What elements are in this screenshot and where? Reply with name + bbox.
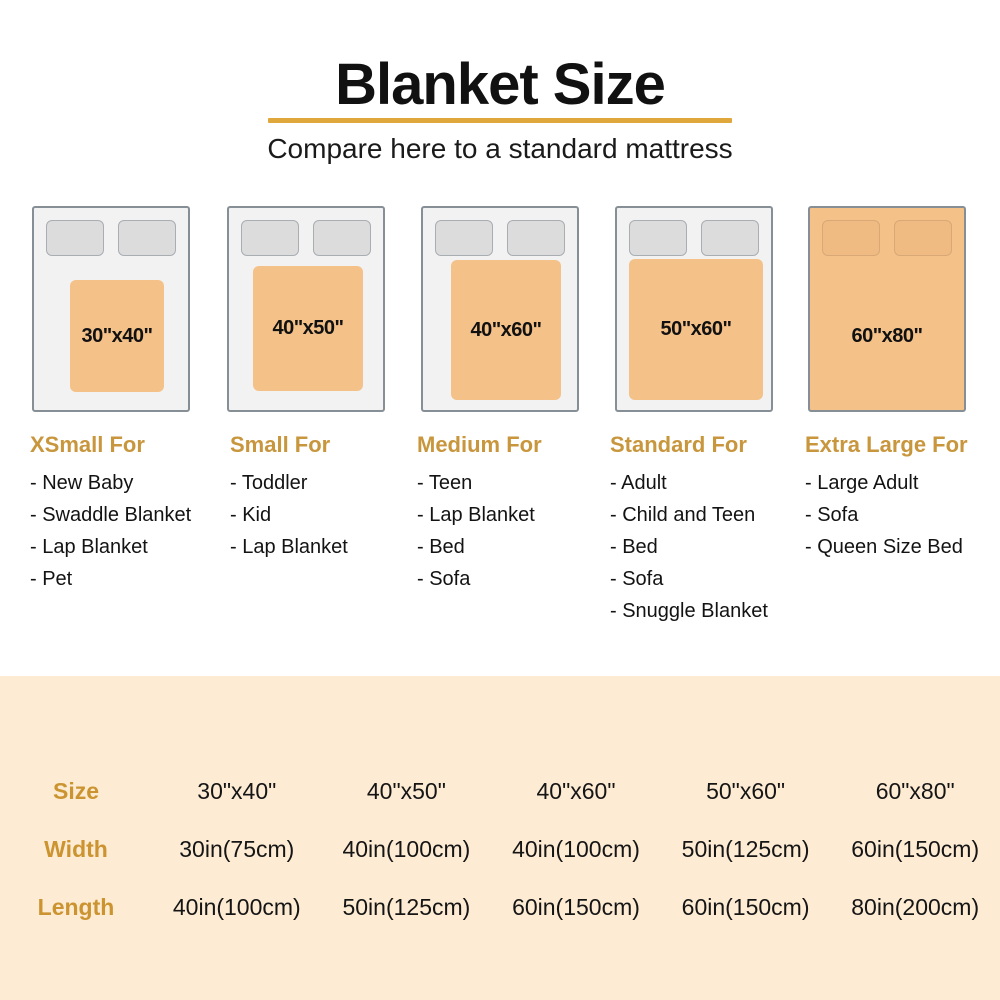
table-row: Length 40in(100cm) 50in(125cm) 60in(150c… (0, 878, 1000, 936)
table-cell: 80in(200cm) (830, 878, 1000, 936)
pillow-icon (118, 220, 176, 256)
blanket-size-label: 40"x60" (470, 319, 541, 342)
spec-table: Size 30"x40" 40"x50" 40"x60" 50"x60" 60"… (0, 762, 1000, 936)
table-cell: 60in(150cm) (830, 820, 1000, 878)
pillow-icon (313, 220, 371, 256)
bed-diagram-standard: 50"x60" (615, 200, 785, 422)
blanket-overlay: 30"x40" (70, 280, 164, 392)
category-title: Medium For (417, 430, 613, 460)
category-list-item: - Lap Blanket (30, 531, 226, 563)
pillow-icon (701, 220, 759, 256)
pillow-icon (241, 220, 299, 256)
table-cell: 40in(100cm) (322, 820, 492, 878)
category-list-item: - Snuggle Blanket (610, 595, 825, 627)
category-title: XSmall For (30, 430, 226, 460)
bed-diagram-extra-large: 60"x80" (808, 200, 978, 422)
category-list-item: - New Baby (30, 467, 226, 499)
row-header-width: Width (0, 820, 152, 878)
category-title: Standard For (610, 430, 825, 460)
category-title: Small For (230, 430, 426, 460)
table-cell: 40"x60" (491, 762, 661, 820)
category-list-item: - Swaddle Blanket (30, 499, 226, 531)
blanket-size-label: 40"x50" (272, 317, 343, 340)
category-column-xsmall: XSmall For - New Baby - Swaddle Blanket … (30, 430, 226, 595)
blanket-overlay: 50"x60" (629, 259, 763, 400)
category-column-standard: Standard For - Adult - Child and Teen - … (610, 430, 825, 627)
pillow-icon (507, 220, 565, 256)
category-list-item: - Sofa (610, 563, 825, 595)
pillow-icon (46, 220, 104, 256)
table-cell: 50"x60" (661, 762, 831, 820)
category-column-small: Small For - Toddler - Kid - Lap Blanket (230, 430, 426, 563)
category-title: Extra Large For (805, 430, 1000, 460)
table-cell: 50in(125cm) (322, 878, 492, 936)
category-list-item: - Queen Size Bed (805, 531, 1000, 563)
blanket-overlay: 40"x50" (253, 266, 363, 391)
blanket-size-label: 50"x60" (660, 318, 731, 341)
pillow-icon (629, 220, 687, 256)
category-list-item: - Lap Blanket (230, 531, 426, 563)
category-list-item: - Toddler (230, 467, 426, 499)
bed-diagram-medium: 40"x60" (421, 200, 591, 422)
table-cell: 40in(100cm) (491, 820, 661, 878)
row-header-size: Size (0, 762, 152, 820)
bed-diagram-row: 30"x40" 40"x50" 40"x60" 50"x60" (0, 200, 1000, 430)
pillow-icon (894, 220, 952, 256)
bed-diagram-xsmall: 30"x40" (32, 200, 202, 422)
table-cell: 60in(150cm) (491, 878, 661, 936)
page-title: Blanket Size (0, 52, 1000, 118)
blanket-size-label: 60"x80" (851, 325, 922, 348)
mattress-outline: 40"x60" (421, 206, 579, 412)
category-list-item: - Large Adult (805, 467, 1000, 499)
table-cell: 30in(75cm) (152, 820, 322, 878)
table-cell: 40in(100cm) (152, 878, 322, 936)
category-column-medium: Medium For - Teen - Lap Blanket - Bed - … (417, 430, 613, 595)
blanket-size-label: 30"x40" (81, 325, 152, 348)
mattress-outline: 30"x40" (32, 206, 190, 412)
table-cell: 60in(150cm) (661, 878, 831, 936)
mattress-outline: 60"x80" (808, 206, 966, 412)
page-subtitle: Compare here to a standard mattress (0, 130, 1000, 168)
spec-panel: Size 30"x40" 40"x50" 40"x60" 50"x60" 60"… (0, 676, 1000, 1000)
table-cell: 60"x80" (830, 762, 1000, 820)
blanket-overlay: 60"x80" (810, 270, 964, 402)
header: Blanket Size Compare here to a standard … (0, 0, 1000, 180)
mattress-outline: 40"x50" (227, 206, 385, 412)
table-row: Width 30in(75cm) 40in(100cm) 40in(100cm)… (0, 820, 1000, 878)
table-row: Size 30"x40" 40"x50" 40"x60" 50"x60" 60"… (0, 762, 1000, 820)
category-list-item: - Sofa (417, 563, 613, 595)
category-list-item: - Bed (417, 531, 613, 563)
pillow-icon (435, 220, 493, 256)
pillow-icon (822, 220, 880, 256)
category-list-item: - Teen (417, 467, 613, 499)
blanket-overlay: 40"x60" (451, 260, 561, 400)
category-list-item: - Sofa (805, 499, 1000, 531)
category-list-item: - Child and Teen (610, 499, 825, 531)
bed-diagram-small: 40"x50" (227, 200, 397, 422)
category-list-item: - Kid (230, 499, 426, 531)
table-cell: 50in(125cm) (661, 820, 831, 878)
category-list-row: XSmall For - New Baby - Swaddle Blanket … (0, 430, 1000, 670)
table-cell: 30"x40" (152, 762, 322, 820)
mattress-outline: 50"x60" (615, 206, 773, 412)
category-list-item: - Bed (610, 531, 825, 563)
row-header-length: Length (0, 878, 152, 936)
category-column-extra-large: Extra Large For - Large Adult - Sofa - Q… (805, 430, 1000, 563)
category-list-item: - Adult (610, 467, 825, 499)
category-list-item: - Lap Blanket (417, 499, 613, 531)
category-list-item: - Pet (30, 563, 226, 595)
table-cell: 40"x50" (322, 762, 492, 820)
title-underline-rule (268, 118, 732, 123)
